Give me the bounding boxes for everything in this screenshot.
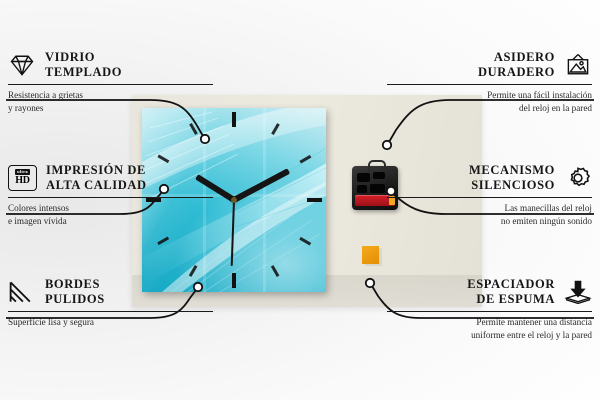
mechanism-hook xyxy=(368,160,386,172)
divider xyxy=(387,197,592,199)
diamond-icon xyxy=(8,52,36,78)
hour-tick xyxy=(232,112,236,127)
divider xyxy=(387,311,592,313)
feature-header: MECANISMO SILENCIOSO xyxy=(387,163,592,193)
feature-header: BORDES PULIDOS xyxy=(8,277,213,307)
feature-header: ESPACIADOR DE ESPUMA xyxy=(387,277,592,307)
hour-tick xyxy=(307,198,322,202)
polished-edges-icon xyxy=(8,279,36,305)
foam-spacer xyxy=(362,246,379,264)
feature-description: Las manecillas del reloj no emiten ningú… xyxy=(387,202,592,227)
feature-description: Superficie lisa y segura xyxy=(8,316,213,328)
mechanism-slot xyxy=(357,185,367,193)
mechanism-slot xyxy=(373,172,385,179)
feature-title: BORDES PULIDOS xyxy=(45,277,105,307)
divider xyxy=(8,311,213,313)
feature-title: ASIDERO DURADERO xyxy=(478,50,555,80)
ultra-hd-icon: ultra HD xyxy=(8,165,37,191)
feature-title: ESPACIADOR DE ESPUMA xyxy=(467,277,555,307)
feature-espaciador-de-espuma: ESPACIADOR DE ESPUMA Permite mantener un… xyxy=(387,277,592,341)
feature-bordes-pulidos: BORDES PULIDOS Superficie lisa y segura xyxy=(8,277,213,329)
mechanism-slot xyxy=(370,184,385,193)
feature-vidrio-templado: VIDRIO TEMPLADO Resistencia a grietas y … xyxy=(8,50,213,114)
feature-description: Permite una fácil instalación del reloj … xyxy=(387,89,592,114)
divider xyxy=(8,197,213,199)
divider xyxy=(8,84,213,86)
feature-description: Colores intensos e imagen vívida xyxy=(8,202,213,227)
feature-header: ASIDERO DURADERO xyxy=(387,50,592,80)
hd-label: HD xyxy=(15,176,29,186)
feature-title: VIDRIO TEMPLADO xyxy=(45,50,122,80)
feature-header: ultra HD IMPRESIÓN DE ALTA CALIDAD xyxy=(8,163,213,193)
gear-icon xyxy=(564,165,592,191)
feature-title: MECANISMO SILENCIOSO xyxy=(469,163,555,193)
hour-tick xyxy=(232,273,236,288)
mechanism-slot xyxy=(357,173,370,182)
feature-description: Resistencia a grietas y rayones xyxy=(8,89,213,114)
feature-header: VIDRIO TEMPLADO xyxy=(8,50,213,80)
picture-frame-hanger-icon xyxy=(564,52,592,78)
clock-center-pin xyxy=(231,197,237,203)
feature-description: Permite mantener una distancia uniforme … xyxy=(387,316,592,341)
divider xyxy=(387,84,592,86)
feature-asidero-duradero: ASIDERO DURADERO Permite una fácil insta… xyxy=(387,50,592,114)
foam-spacer-arrow-icon xyxy=(564,279,592,305)
feature-title: IMPRESIÓN DE ALTA CALIDAD xyxy=(46,163,147,193)
feature-mecanismo-silencioso: MECANISMO SILENCIOSO Las manecillas del … xyxy=(387,163,592,227)
glass-panel-line xyxy=(263,108,266,292)
infographic-canvas: VIDRIO TEMPLADO Resistencia a grietas y … xyxy=(0,0,600,400)
feature-impresion-alta-calidad: ultra HD IMPRESIÓN DE ALTA CALIDAD Color… xyxy=(8,163,213,227)
